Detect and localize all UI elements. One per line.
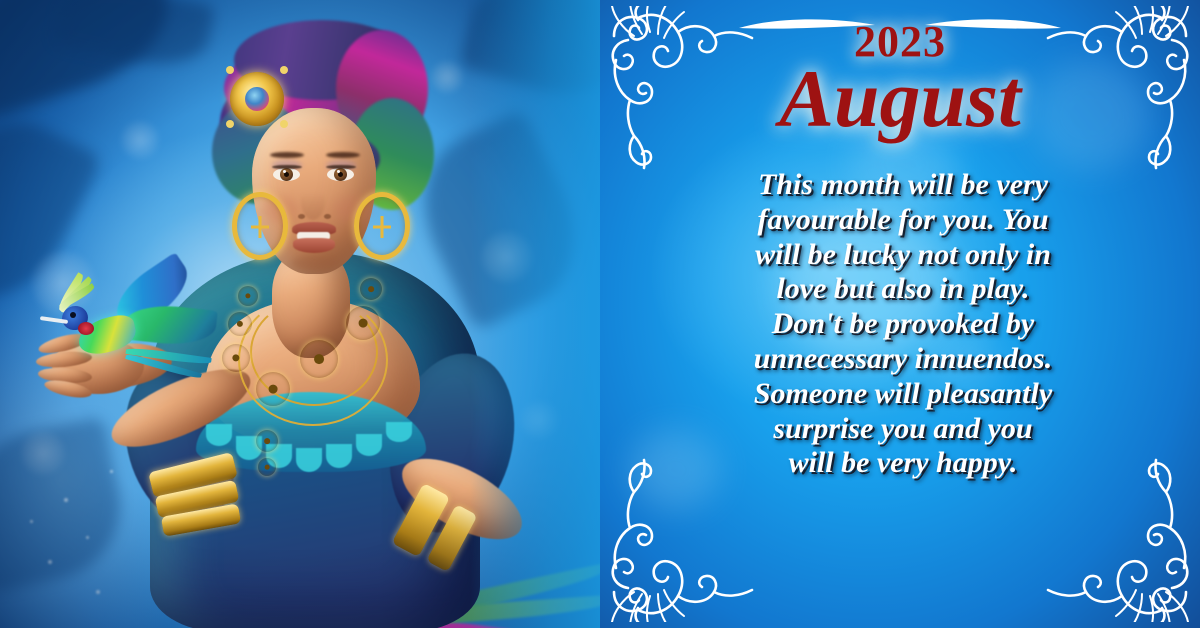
gold-hoop-earring-left [232, 192, 288, 260]
bokeh-orb [520, 400, 560, 440]
month-title: August [600, 58, 1200, 140]
gold-hoop-earring-right [354, 192, 410, 260]
brooch-bead [226, 66, 234, 74]
forecast-line: will be lucky not only in [672, 238, 1134, 273]
necklace-disc [228, 312, 252, 336]
lower-lip [293, 238, 335, 253]
eyelash-left [272, 165, 302, 169]
forecast-line: love but also in play. [672, 272, 1134, 307]
eye-highlight [283, 170, 286, 173]
bokeh-orb [480, 230, 534, 284]
lace-trim [326, 444, 352, 468]
forecast-line: surprise you and you [672, 412, 1134, 447]
nose [301, 182, 325, 220]
lace-trim [206, 424, 232, 446]
jeweled-brooch [230, 72, 284, 126]
hummingbird-eye [70, 312, 76, 318]
necklace-disc [256, 372, 290, 406]
necklace-disc [360, 278, 382, 300]
lace-trim [296, 448, 322, 472]
forecast-line: Someone will pleasantly [672, 377, 1134, 412]
forecast-line: This month will be very [672, 168, 1134, 203]
text-panel: 2023 August This month will be very favo… [600, 0, 1200, 628]
lace-trim [356, 434, 382, 456]
necklace-disc [238, 286, 258, 306]
nostril [324, 214, 331, 219]
eyebrow-right [326, 152, 360, 158]
chin-shadow [292, 256, 338, 270]
forecast-line: Don't be provoked by [672, 307, 1134, 342]
forecast-line: unnecessary innuendos. [672, 342, 1134, 377]
brooch-bead [280, 120, 288, 128]
necklace-disc [222, 344, 250, 372]
brooch-bead [226, 120, 234, 128]
necklace-pendant [256, 430, 278, 452]
lace-trim [386, 422, 412, 442]
forecast-text: This month will be very favourable for y… [672, 168, 1134, 481]
necklace-pendant [258, 458, 276, 476]
eyebrow-left [270, 152, 304, 158]
bokeh-orb [430, 60, 464, 94]
bokeh-orb [120, 120, 160, 160]
hummingbird-throat [78, 322, 94, 335]
forecast-line: will be very happy. [672, 446, 1134, 481]
illustration-panel [0, 0, 620, 628]
nostril [298, 214, 305, 219]
horoscope-poster: 2023 August This month will be very favo… [0, 0, 1200, 628]
eyelash-right [326, 165, 356, 169]
eye-highlight [337, 170, 340, 173]
forecast-line: favourable for you. You [672, 203, 1134, 238]
necklace-disc [346, 306, 380, 340]
brooch-bead [280, 66, 288, 74]
necklace-disc [300, 340, 338, 378]
